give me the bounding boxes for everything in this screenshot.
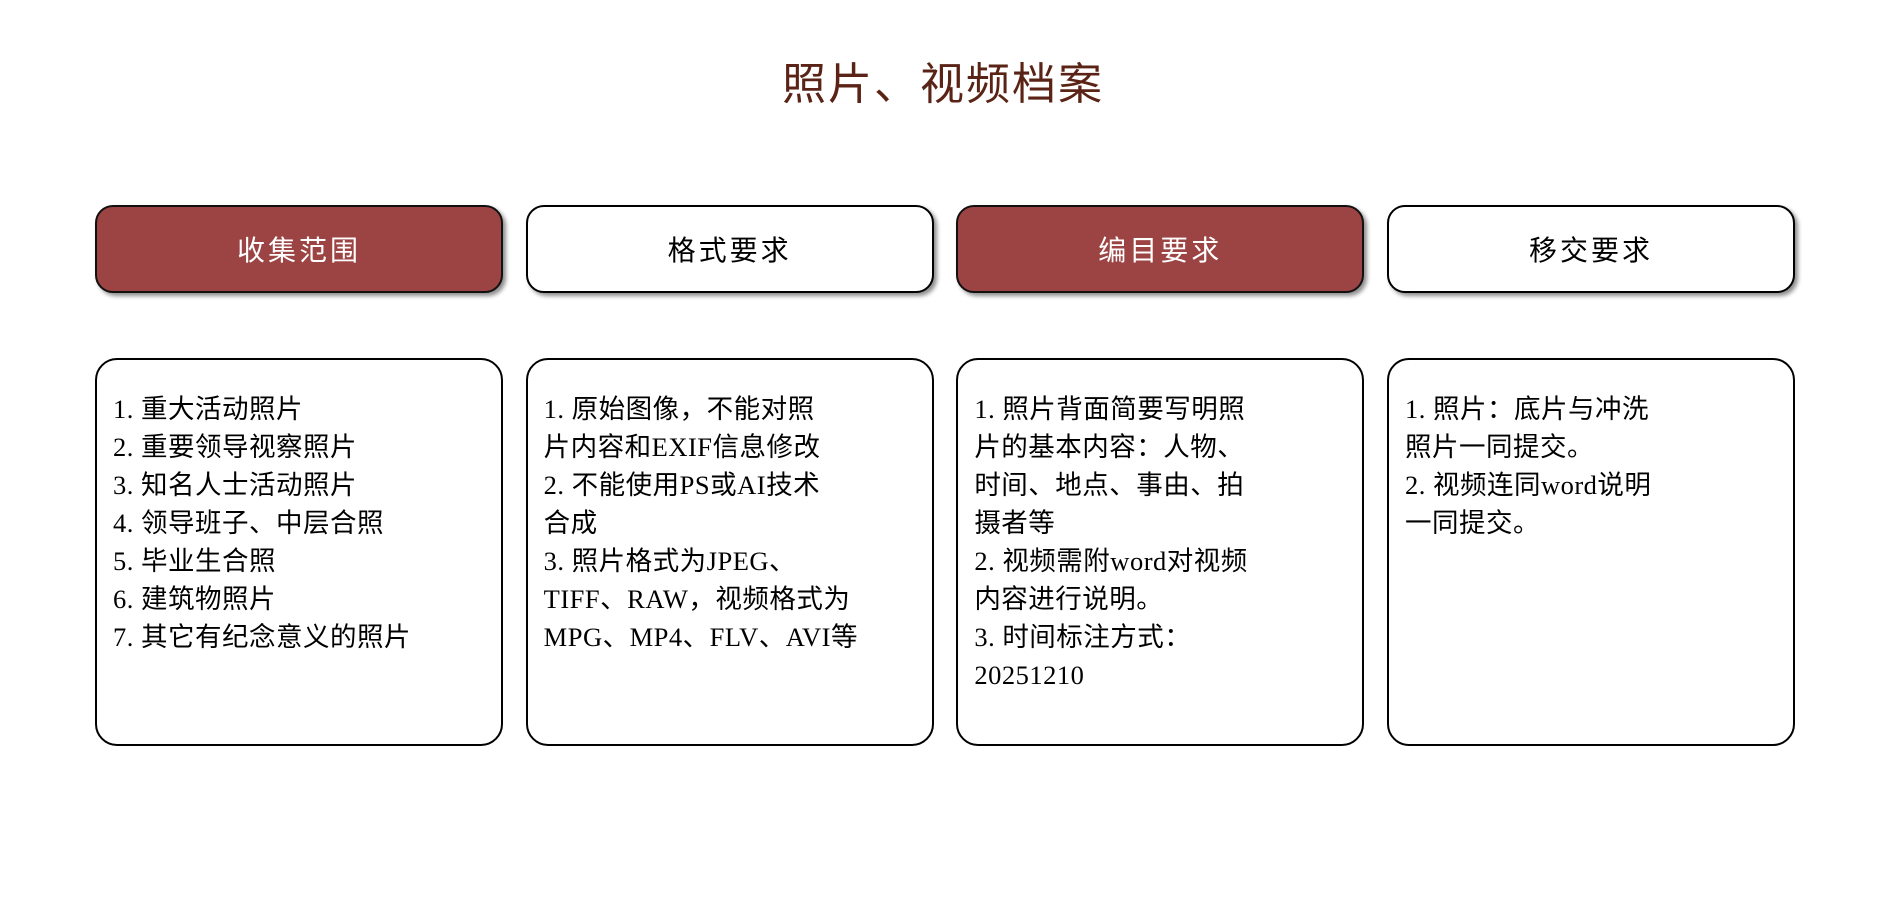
list-item: 2. 重要领导视察照片 — [113, 428, 487, 466]
list-item: 3. 时间标注方式： — [974, 618, 1348, 656]
column-collection-scope: 收集范围 1. 重大活动照片 2. 重要领导视察照片 3. 知名人士活动照片 4… — [95, 205, 503, 746]
panel-format-requirements: 1. 原始图像，不能对照 片内容和EXIF信息修改 2. 不能使用PS或AI技术… — [526, 358, 934, 746]
tab-label: 移交要求 — [1529, 229, 1653, 269]
list-item: 片内容和EXIF信息修改 — [544, 428, 918, 466]
list-item: 4. 领导班子、中层合照 — [113, 504, 487, 542]
list-item: 摄者等 — [974, 504, 1348, 542]
list-item: MPG、MP4、FLV、AVI等 — [544, 618, 918, 656]
page-title: 照片、视频档案 — [0, 48, 1886, 112]
slide-canvas: 照片、视频档案 收集范围 1. 重大活动照片 2. 重要领导视察照片 3. 知名… — [0, 0, 1886, 923]
panel-cataloging-requirements: 1. 照片背面简要写明照 片的基本内容：人物、 时间、地点、事由、拍 摄者等 2… — [956, 358, 1364, 746]
column-cataloging-requirements: 编目要求 1. 照片背面简要写明照 片的基本内容：人物、 时间、地点、事由、拍 … — [956, 205, 1364, 746]
tab-collection-scope[interactable]: 收集范围 — [95, 205, 503, 293]
tab-label: 编目要求 — [1098, 229, 1222, 269]
columns-container: 收集范围 1. 重大活动照片 2. 重要领导视察照片 3. 知名人士活动照片 4… — [95, 205, 1795, 746]
list-item: 2. 视频连同word说明 — [1405, 466, 1779, 504]
list-item: 照片一同提交。 — [1405, 428, 1779, 466]
column-transfer-requirements: 移交要求 1. 照片：底片与冲洗 照片一同提交。 2. 视频连同word说明 一… — [1387, 205, 1795, 746]
list-item: 7. 其它有纪念意义的照片 — [113, 618, 487, 656]
list-item: 2. 不能使用PS或AI技术 — [544, 466, 918, 504]
tab-cataloging-requirements[interactable]: 编目要求 — [956, 205, 1364, 293]
list-item: 3. 知名人士活动照片 — [113, 466, 487, 504]
panel-collection-scope: 1. 重大活动照片 2. 重要领导视察照片 3. 知名人士活动照片 4. 领导班… — [95, 358, 503, 746]
list-item: 内容进行说明。 — [974, 580, 1348, 618]
tab-transfer-requirements[interactable]: 移交要求 — [1387, 205, 1795, 293]
list-item: TIFF、RAW，视频格式为 — [544, 580, 918, 618]
list-item: 1. 照片：底片与冲洗 — [1405, 390, 1779, 428]
list-item: 1. 重大活动照片 — [113, 390, 487, 428]
list-item: 2. 视频需附word对视频 — [974, 542, 1348, 580]
column-format-requirements: 格式要求 1. 原始图像，不能对照 片内容和EXIF信息修改 2. 不能使用PS… — [526, 205, 934, 746]
list-item: 20251210 — [974, 656, 1348, 694]
list-item: 时间、地点、事由、拍 — [974, 466, 1348, 504]
list-item: 1. 照片背面简要写明照 — [974, 390, 1348, 428]
list-item: 6. 建筑物照片 — [113, 580, 487, 618]
list-item: 5. 毕业生合照 — [113, 542, 487, 580]
tab-label: 格式要求 — [668, 229, 792, 269]
panel-transfer-requirements: 1. 照片：底片与冲洗 照片一同提交。 2. 视频连同word说明 一同提交。 — [1387, 358, 1795, 746]
list-item: 1. 原始图像，不能对照 — [544, 390, 918, 428]
list-item: 3. 照片格式为JPEG、 — [544, 542, 918, 580]
list-item: 合成 — [544, 504, 918, 542]
list-item: 片的基本内容：人物、 — [974, 428, 1348, 466]
tab-format-requirements[interactable]: 格式要求 — [526, 205, 934, 293]
list-item: 一同提交。 — [1405, 504, 1779, 542]
tab-label: 收集范围 — [237, 229, 361, 269]
